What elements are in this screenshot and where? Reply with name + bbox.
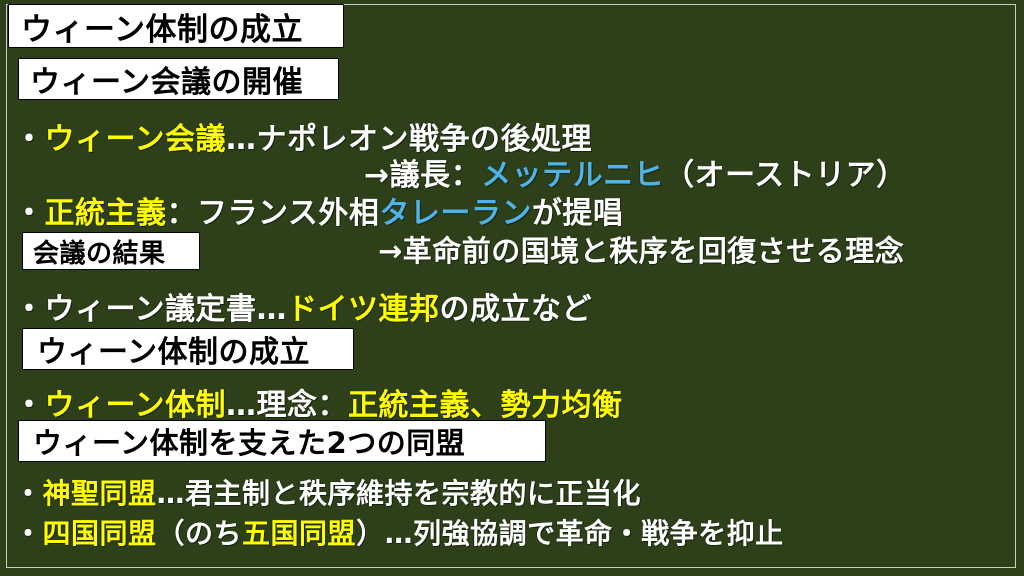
term-vienna-system: ウィーン体制 [45,388,227,423]
term-legitimism: 正統主義 [45,196,167,231]
country-austria: （オーストリア） [664,158,907,193]
heading-box-establishment-of-vienna-system-2: ウィーン体制の成立 [22,328,354,370]
description-text: ）…列強協調で革命・戦争を抑止 [356,517,784,550]
description-text-tail: が提唱 [532,196,624,231]
term-legitimism-and-balance-of-power: 正統主義、勢力均衡 [348,388,623,423]
term-quintuple-alliance: 五国同盟 [242,517,356,550]
paren-open-later: （のち [157,517,243,550]
heading-box-results-of-congress: 会議の結果 [22,232,200,270]
heading-label: ウィーン会議の開催 [30,57,303,101]
term-german-confederation: ドイツ連邦 [287,292,440,327]
bullet-marker: ・ [14,517,43,550]
term-final-act: ウィーン議定書… [45,292,288,327]
label-principles: …理念： [226,388,348,423]
heading-label: ウィーン体制の成立 [37,327,310,371]
heading-box-congress-of-vienna: ウィーン会議の開催 [18,58,339,100]
list-item-vienna-system-principles: ・ウィーン体制…理念：正統主義、勢力均衡 [14,380,623,424]
bullet-marker: ・ [14,388,45,423]
heading-label: 会議の結果 [33,233,166,270]
list-item-legitimism: ・正統主義：フランス外相タレーランが提唱 [14,188,623,232]
slide-canvas: ウィーン体制の成立 ウィーン会議の開催 ・ウィーン会議…ナポレオン戦争の後処理 … [0,0,1024,576]
bullet-marker: ・ [14,292,45,327]
list-item-holy-alliance: ・神聖同盟…君主制と秩序維持を宗教的に正当化 [14,472,641,512]
list-item-quadruple-alliance: ・四国同盟（のち五国同盟）…列強協調で革命・戦争を抑止 [14,512,784,552]
list-item-restoration-principle: →革命前の国境と秩序を回復させる理念 [378,228,904,270]
term-talleyrand: タレーラン [379,196,532,231]
heading-box-establishment-of-vienna-system: ウィーン体制の成立 [8,4,344,48]
bullet-marker: ・ [14,196,45,231]
description-text: の成立など [440,292,593,327]
term-quadruple-alliance: 四国同盟 [43,517,157,550]
arrow-label-restoration: →革命前の国境と秩序を回復させる理念 [378,234,904,268]
description-text: …君主制と秩序維持を宗教的に正当化 [157,477,642,510]
heading-label: ウィーン体制の成立 [21,4,303,49]
heading-label: ウィーン体制を支えた2つの同盟 [33,420,465,462]
list-item-final-act-of-vienna: ・ウィーン議定書…ドイツ連邦の成立など [14,284,592,328]
term-holy-alliance: 神聖同盟 [43,477,157,510]
term-congress-of-vienna: ウィーン会議 [45,122,227,157]
bullet-marker: ・ [14,122,45,157]
description-text: ：フランス外相 [167,196,380,231]
bullet-marker: ・ [14,477,43,510]
heading-box-two-alliances: ウィーン体制を支えた2つの同盟 [18,420,546,462]
